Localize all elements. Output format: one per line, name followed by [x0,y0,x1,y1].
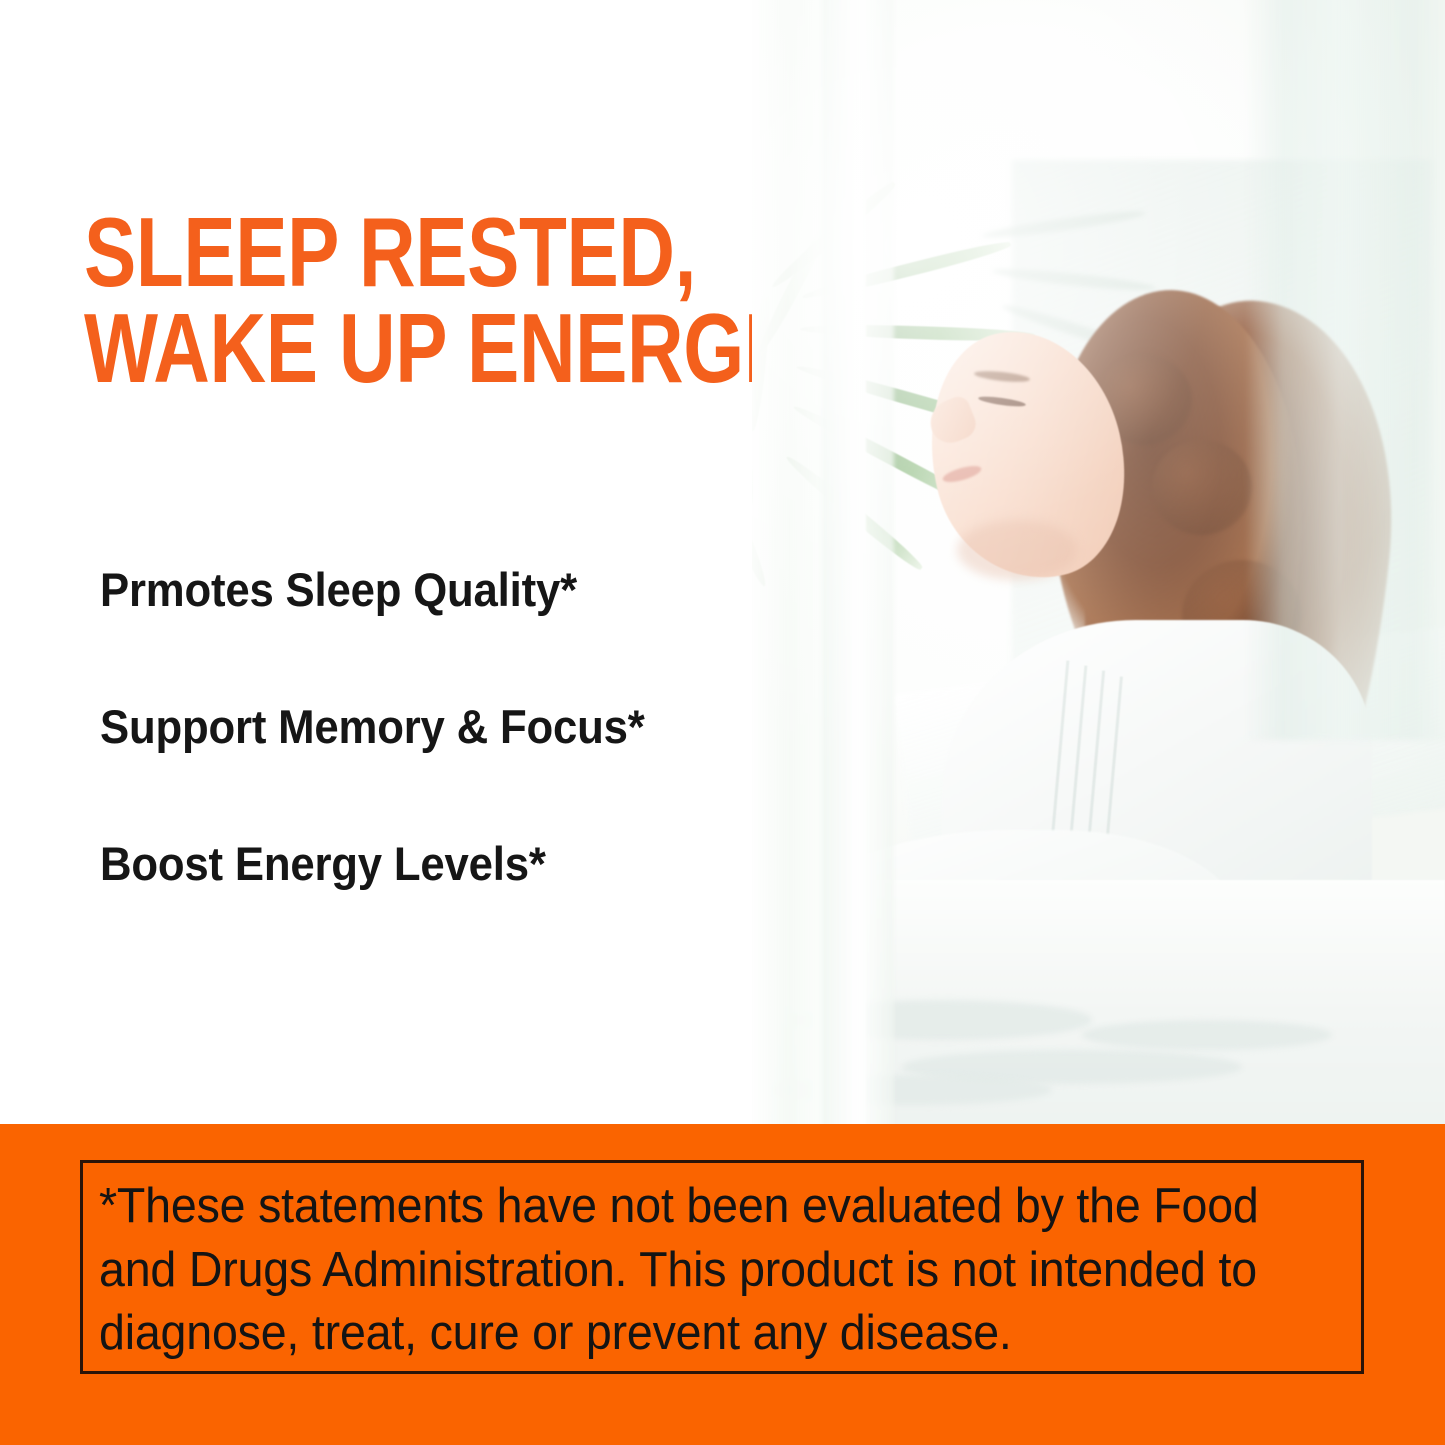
benefits-list: Prmotes Sleep Quality* Support Memory & … [100,566,740,887]
benefit-item-sleep-quality: Prmotes Sleep Quality* [100,566,695,613]
benefit-item-energy-levels: Boost Energy Levels* [100,840,695,887]
lifestyle-photo [752,0,1445,1124]
neck-shadow [957,520,1077,580]
sheer-curtain-left-fold [822,0,894,1124]
disclaimer-box: *These statements have not been evaluate… [80,1160,1364,1374]
disclaimer-band: *These statements have not been evaluate… [0,1124,1445,1445]
benefit-item-memory-focus: Support Memory & Focus* [100,703,695,750]
hair-curl [1152,440,1252,535]
product-infographic: SLEEP RESTED, WAKE UP ENERGIZED Prmotes … [0,0,1445,1445]
sheer-curtain-right [1245,0,1445,740]
disclaimer-text: *These statements have not been evaluate… [99,1175,1287,1366]
sheet-fold [1082,1020,1332,1050]
left-content-column: SLEEP RESTED, WAKE UP ENERGIZED Prmotes … [0,0,752,1124]
